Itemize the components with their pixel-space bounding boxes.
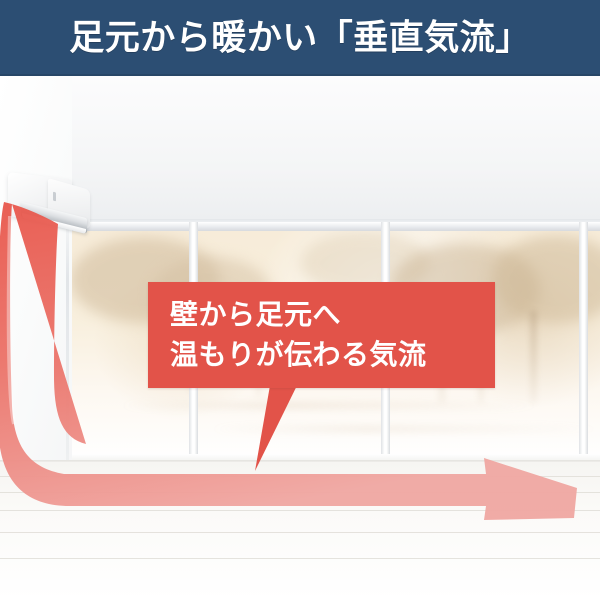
floor [0,462,600,600]
poster-root: 足元から暖かい「垂直気流」 [0,0,600,600]
header-bar: 足元から暖かい「垂直気流」 [0,0,600,76]
window-head-rail [60,222,600,231]
callout-bubble: 壁から足元へ 温もりが伝わる気流 [148,282,495,388]
wall-corner [66,204,69,504]
window-mullion [579,222,588,460]
callout-line-1: 壁から足元へ [170,295,495,335]
tree-trunk [530,311,537,403]
air-conditioner-icon [8,176,90,236]
room-scene: 壁から足元へ 温もりが伝わる気流 [0,76,600,600]
page-title: 足元から暖かい「垂直気流」 [0,21,600,56]
ac-detail [53,192,56,202]
callout-line-2: 温もりが伝わる気流 [170,335,495,375]
callout-text: 壁から足元へ 温もりが伝わる気流 [148,282,495,388]
ceiling [0,76,600,226]
